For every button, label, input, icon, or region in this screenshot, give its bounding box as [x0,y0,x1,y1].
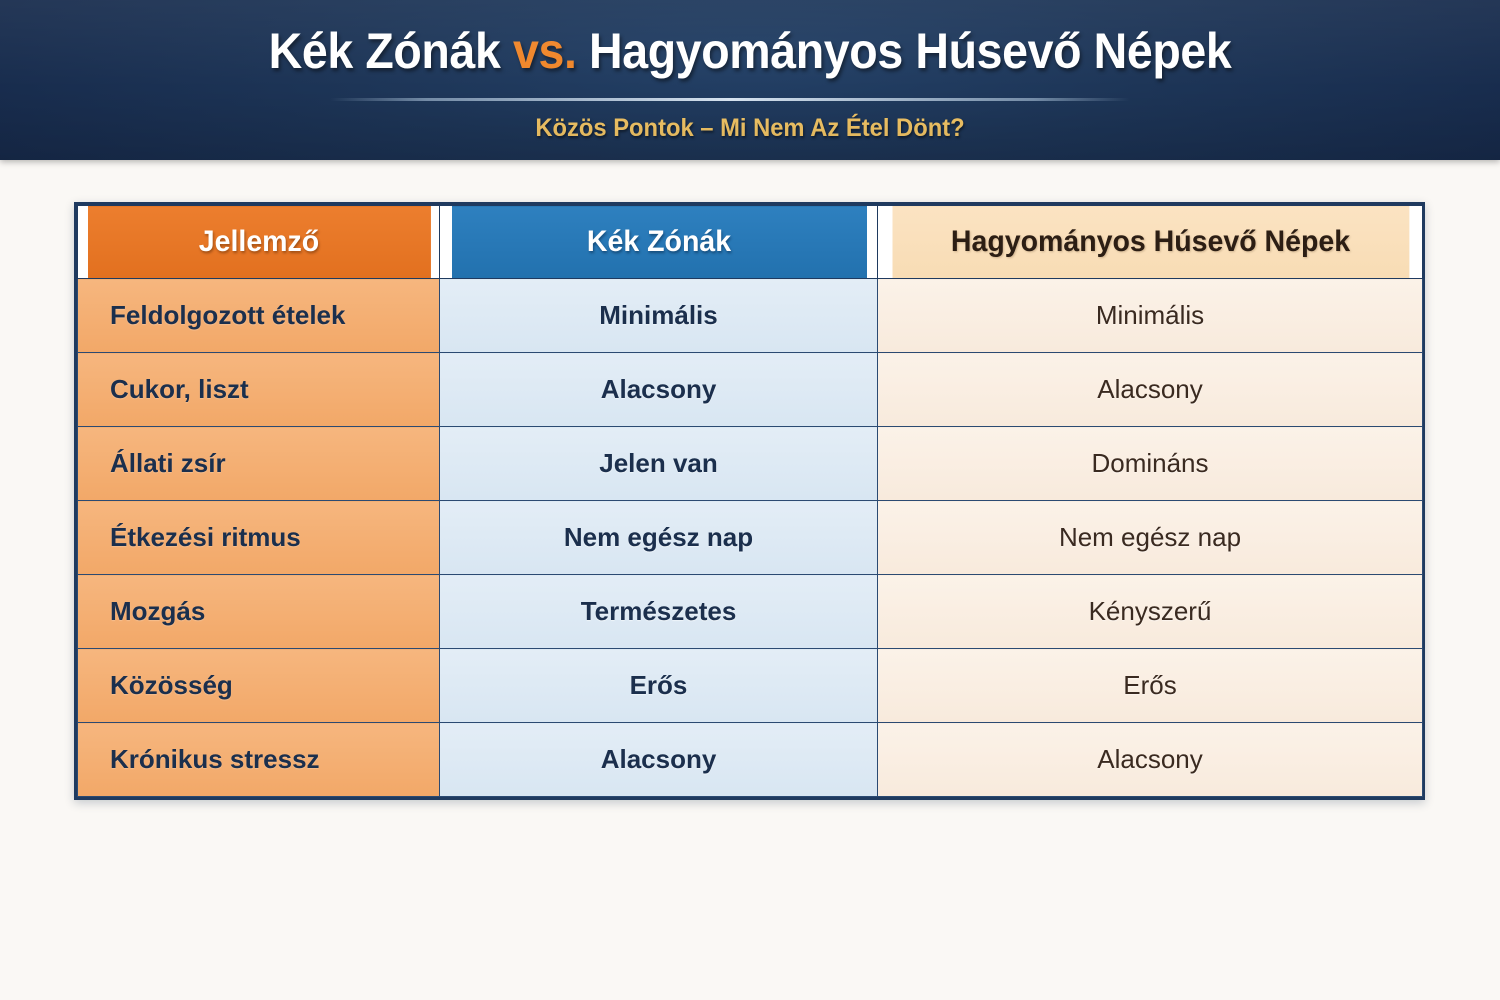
comparison-table: Jellemző Kék Zónák Hagyományos Húsevő Né… [74,202,1425,800]
cell-feature: Mozgás [78,575,440,649]
table-row: Mozgás Természetes Kényszerű [78,575,1423,649]
title-text-part1: Kék Zónák [269,23,513,79]
cell-feature: Feldolgozott ételek [78,279,440,353]
table-row: Állati zsír Jelen van Domináns [78,427,1423,501]
page-subtitle: Közös Pontok – Mi Nem Az Étel Dönt? [38,112,1463,144]
cell-blue-zone: Alacsony [440,353,878,427]
cell-feature: Közösség [78,649,440,723]
table-row: Feldolgozott ételek Minimális Minimális [78,279,1423,353]
cell-blue-zone: Minimális [440,279,878,353]
table-row: Étkezési ritmus Nem egész nap Nem egész … [78,501,1423,575]
cell-feature: Cukor, liszt [78,353,440,427]
cell-meat-eating: Alacsony [878,353,1423,427]
cell-meat-eating: Kényszerű [878,575,1423,649]
table-row: Krónikus stressz Alacsony Alacsony [78,723,1423,797]
table-body: Feldolgozott ételek Minimális Minimális … [78,279,1423,797]
cell-blue-zone: Erős [440,649,878,723]
column-header-meat-eating-peoples: Hagyományos Húsevő Népek [891,206,1409,279]
cell-meat-eating: Alacsony [878,723,1423,797]
title-divider [330,98,1130,101]
comparison-table-element: Jellemző Kék Zónák Hagyományos Húsevő Né… [77,205,1423,797]
cell-meat-eating: Minimális [878,279,1423,353]
cell-blue-zone: Alacsony [440,723,878,797]
header-banner: Kék Zónák vs. Hagyományos Húsevő Népek K… [0,0,1500,160]
cell-feature: Krónikus stressz [78,723,440,797]
table-row: Cukor, liszt Alacsony Alacsony [78,353,1423,427]
column-header-feature: Jellemző [87,206,431,279]
cell-blue-zone: Jelen van [440,427,878,501]
table-row: Közösség Erős Erős [78,649,1423,723]
cell-feature: Állati zsír [78,427,440,501]
column-header-blue-zones: Kék Zónák [450,206,866,279]
table-header: Jellemző Kék Zónák Hagyományos Húsevő Né… [78,206,1423,279]
cell-feature: Étkezési ritmus [78,501,440,575]
page-title: Kék Zónák vs. Hagyományos Húsevő Népek [53,22,1448,80]
cell-blue-zone: Nem egész nap [440,501,878,575]
title-vs-highlight: vs. [513,23,577,79]
cell-meat-eating: Nem egész nap [878,501,1423,575]
table-header-row: Jellemző Kék Zónák Hagyományos Húsevő Né… [78,206,1423,279]
cell-blue-zone: Természetes [440,575,878,649]
title-text-part2: Hagyományos Húsevő Népek [577,23,1232,79]
cell-meat-eating: Domináns [878,427,1423,501]
cell-meat-eating: Erős [878,649,1423,723]
